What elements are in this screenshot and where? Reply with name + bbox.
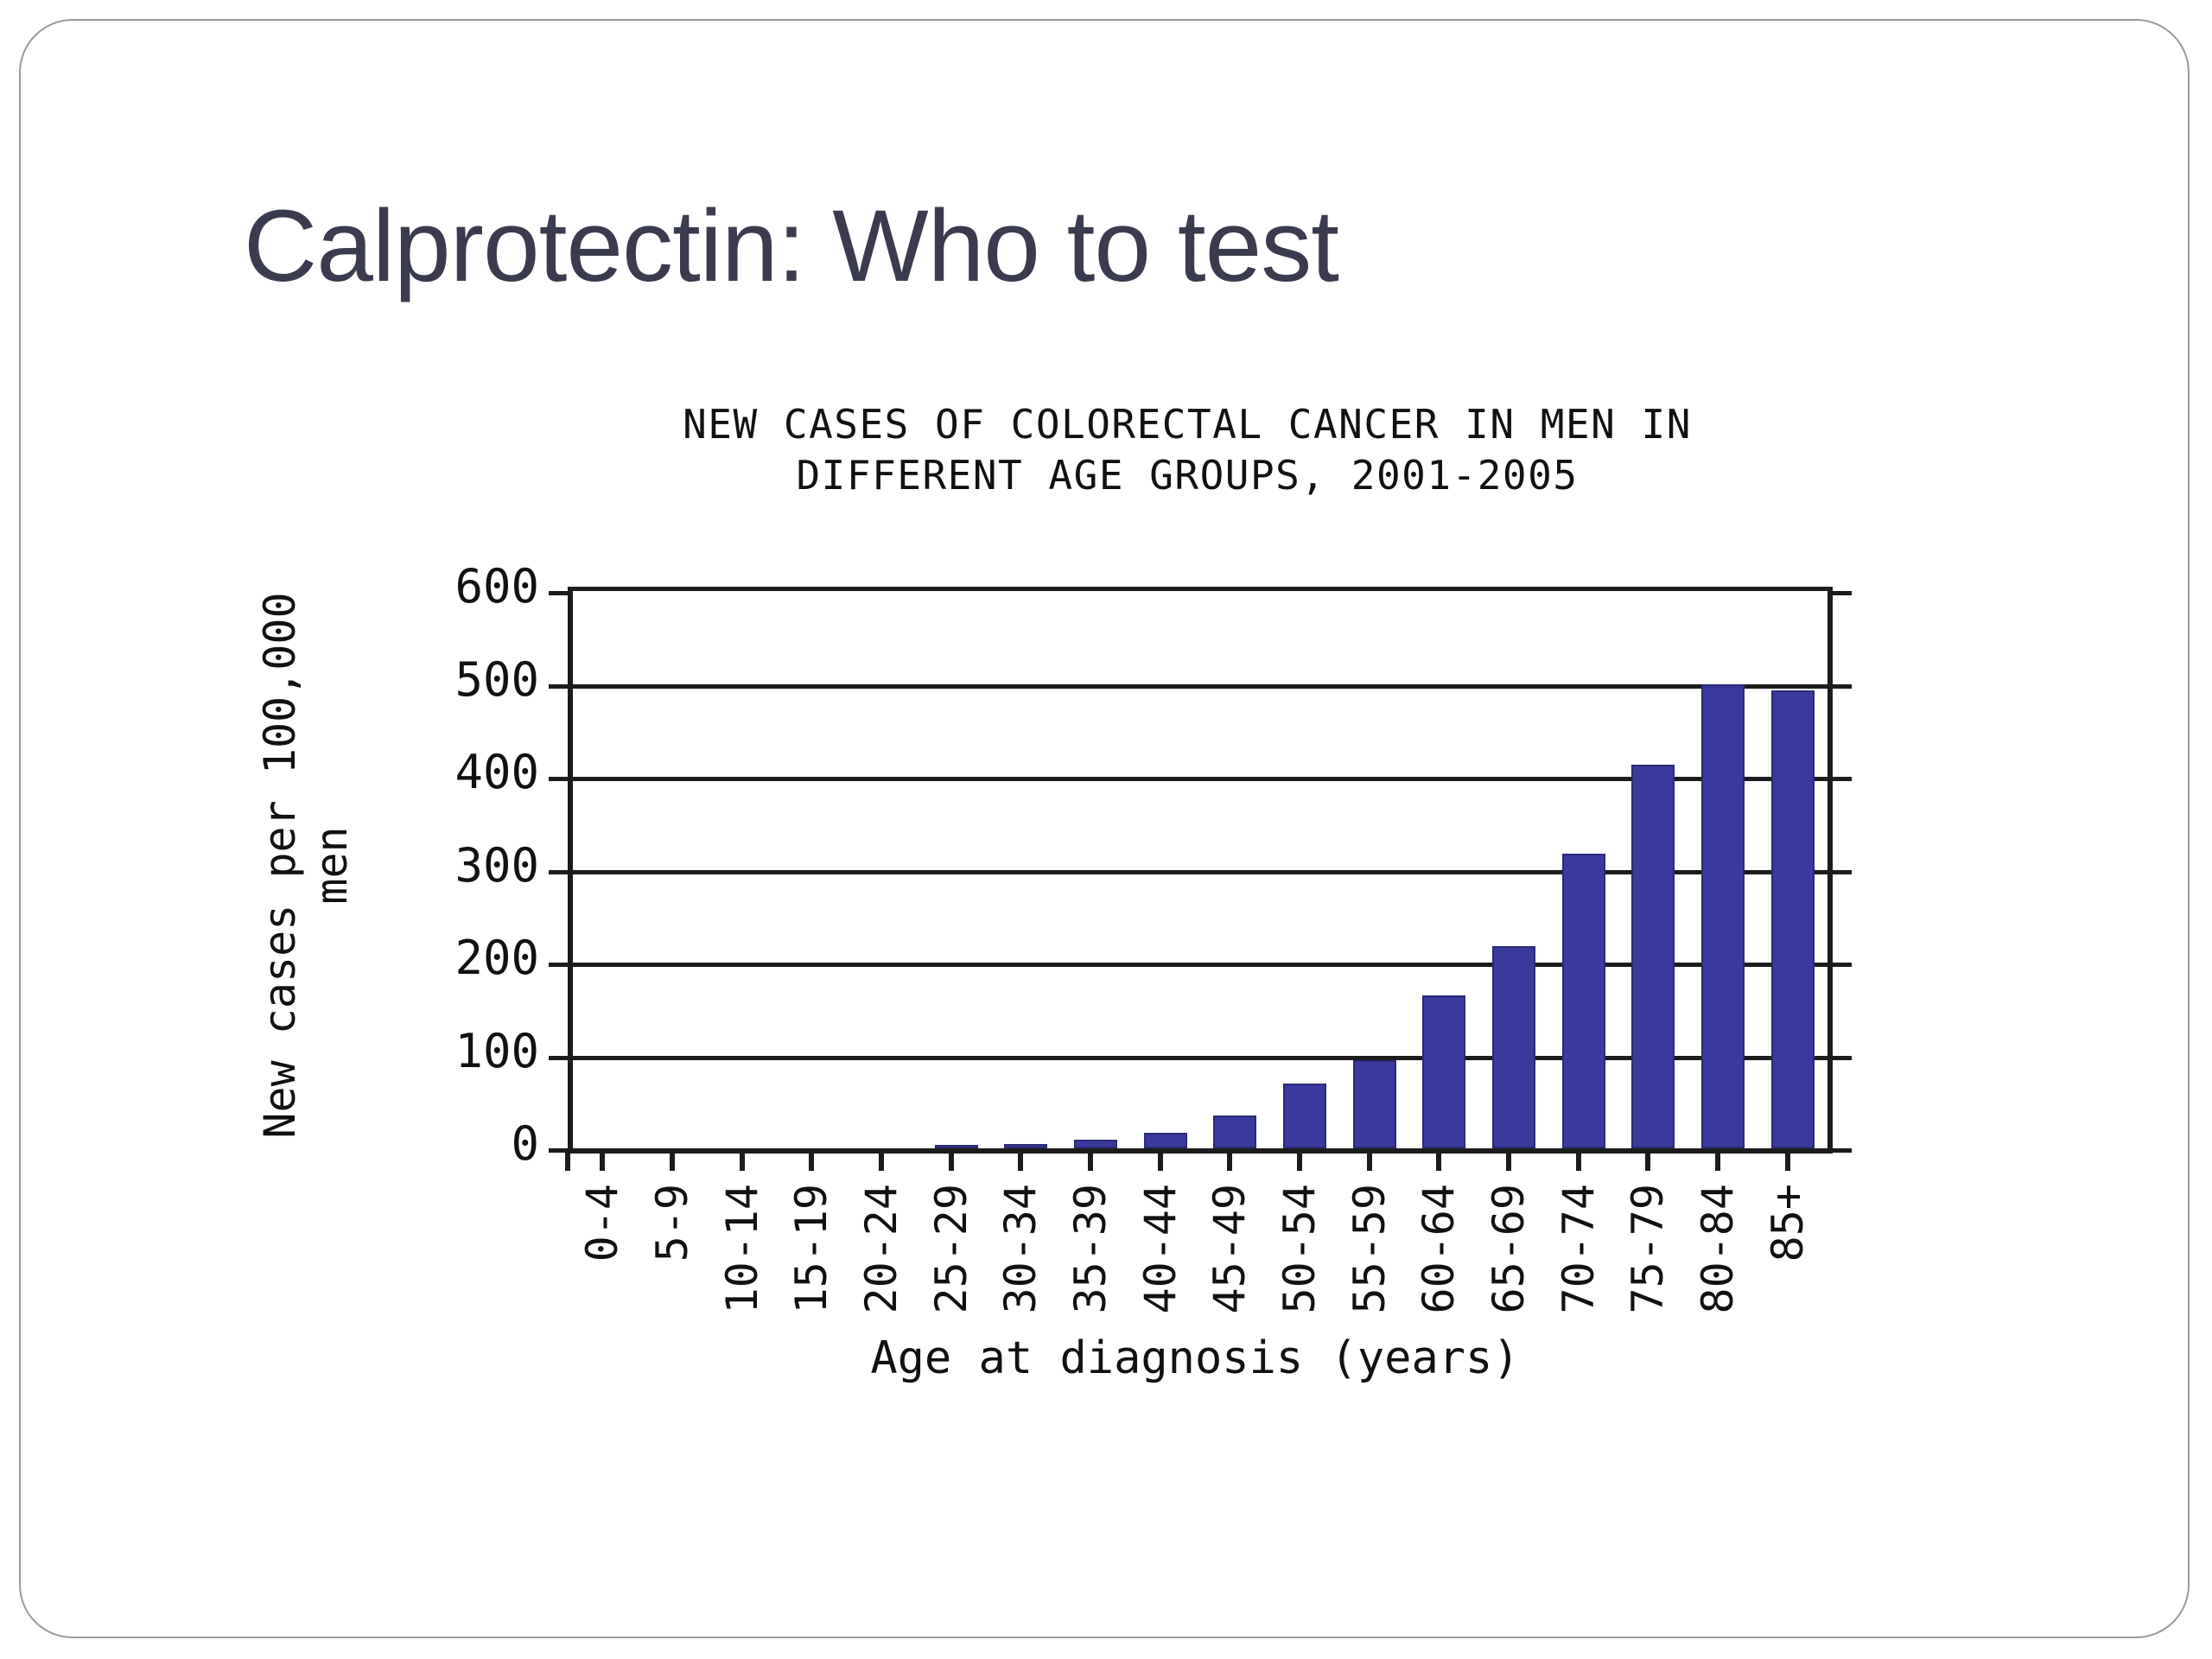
- x-axis-tick: [1404, 1148, 1474, 1171]
- y-axis-tick-right: [1833, 963, 1852, 967]
- bar: [1074, 1140, 1117, 1148]
- bar: [1353, 1060, 1396, 1148]
- y-axis-tick: [549, 1056, 568, 1060]
- x-axis-tick: [568, 1148, 638, 1171]
- x-axis-tick-label-text: 50-54: [1278, 1184, 1321, 1314]
- y-axis-label: New cases per 100,000 men: [254, 29, 392, 587]
- bar: [1283, 1084, 1326, 1148]
- bar-slot: [712, 591, 782, 1148]
- bar-series: [573, 591, 1827, 1148]
- y-axis-tick-right: [1833, 777, 1852, 781]
- x-axis-tick: [1613, 1148, 1683, 1171]
- x-axis-tick-label-text: 35-39: [1069, 1184, 1112, 1314]
- bar-slot: [1758, 591, 1827, 1148]
- bar-slot: [852, 591, 922, 1148]
- x-axis-tick-label-text: 40-44: [1139, 1184, 1182, 1314]
- x-axis-tick-label-text: 0-4: [581, 1184, 624, 1262]
- chart-title: NEW CASES OF COLORECTAL CANCER IN MEN IN…: [435, 399, 1939, 501]
- slide-canvas: Calprotectin: Who to test NEW CASES OF C…: [19, 19, 2190, 1638]
- bar: [1631, 765, 1675, 1148]
- x-axis-tick-label-text: 70-74: [1557, 1184, 1600, 1314]
- y-axis-tick-right: [1833, 1056, 1852, 1060]
- x-axis-tick-label-text: 10-14: [721, 1184, 764, 1314]
- x-axis-tick-label-text: 30-34: [999, 1184, 1042, 1314]
- x-axis-tick: [1125, 1148, 1195, 1171]
- y-axis-tick: [549, 684, 568, 689]
- y-axis-tick: [549, 591, 568, 595]
- x-axis-tick: [1334, 1148, 1404, 1171]
- bar-slot: [573, 591, 643, 1148]
- x-axis-tick: [1752, 1148, 1822, 1171]
- x-axis-tick: [1265, 1148, 1335, 1171]
- plot-area: [568, 587, 1833, 1154]
- chart-title-line-1: NEW CASES OF COLORECTAL CANCER IN MEN IN: [435, 399, 1939, 450]
- chart-figure: NEW CASES OF COLORECTAL CANCER IN MEN IN…: [21, 384, 2191, 1464]
- x-axis-tick: [916, 1148, 986, 1171]
- plot-inner: [573, 591, 1827, 1148]
- y-axis-tick-right: [1833, 1148, 1852, 1153]
- bar-slot: [1270, 591, 1340, 1148]
- bar-slot: [1130, 591, 1200, 1148]
- page-title: Calprotectin: Who to test: [244, 194, 2058, 301]
- x-axis-tick: [1543, 1148, 1613, 1171]
- y-axis-tick-label: 400: [454, 749, 539, 796]
- y-axis-label-line-2: men: [306, 587, 358, 1144]
- x-axis-tick-label-text: 15-19: [790, 1184, 833, 1314]
- x-axis-tick: [638, 1148, 708, 1171]
- bar-slot: [1479, 591, 1549, 1148]
- y-axis-tick-label: 500: [454, 657, 539, 703]
- bar-slot: [921, 591, 991, 1148]
- x-axis-tick-label-text: 80-84: [1696, 1184, 1739, 1314]
- bar-slot: [1200, 591, 1270, 1148]
- x-axis-tick-label-text: 85+: [1766, 1184, 1809, 1262]
- y-axis-tick: [549, 963, 568, 967]
- bar-slot: [1688, 591, 1758, 1148]
- y-axis-tick-right: [1833, 684, 1852, 689]
- x-axis-tick: [1683, 1148, 1753, 1171]
- y-axis-tick-right: [1833, 591, 1852, 595]
- y-axis-tick: [549, 777, 568, 781]
- bar-slot: [782, 591, 852, 1148]
- y-axis-tick-label: 0: [511, 1121, 539, 1167]
- bar: [1562, 854, 1605, 1148]
- x-axis-label: Age at diagnosis (years): [568, 1332, 1822, 1384]
- y-axis-tick: [549, 870, 568, 874]
- chart-title-line-2: DIFFERENT AGE GROUPS, 2001-2005: [435, 450, 1939, 501]
- y-axis-tick-labels: 6005004003002001000: [401, 587, 539, 1144]
- x-axis-tick-label-text: 45-49: [1208, 1184, 1251, 1314]
- x-axis-tick-label-text: 60-64: [1417, 1184, 1460, 1314]
- y-axis-label-line-1: New cases per 100,000: [254, 587, 306, 1144]
- x-axis-tick: [1056, 1148, 1126, 1171]
- x-axis-tick: [707, 1148, 777, 1171]
- x-axis-tick: [847, 1148, 917, 1171]
- x-axis-tick-label-text: 55-59: [1348, 1184, 1391, 1314]
- x-axis-tick-label-text: 65-69: [1487, 1184, 1530, 1314]
- y-axis-tick-label: 300: [454, 842, 539, 889]
- bar-slot: [643, 591, 713, 1148]
- bar: [1701, 684, 1745, 1149]
- x-axis-tick-label-text: 20-24: [860, 1184, 903, 1314]
- bar: [1771, 690, 1815, 1148]
- bar: [1144, 1133, 1187, 1148]
- bar-slot: [991, 591, 1061, 1148]
- bar-slot: [1061, 591, 1131, 1148]
- bar: [1422, 995, 1465, 1148]
- bar-slot: [1548, 591, 1618, 1148]
- x-axis-tick: [777, 1148, 847, 1171]
- x-axis-ticks: [568, 1148, 1822, 1171]
- x-axis-tick-label-text: 5-9: [651, 1184, 694, 1262]
- bar-slot: [1339, 591, 1409, 1148]
- x-axis-tick: [1474, 1148, 1544, 1171]
- bar: [1213, 1116, 1256, 1148]
- bar: [1492, 946, 1535, 1148]
- x-axis-tick-label-text: 25-29: [930, 1184, 973, 1314]
- y-axis-tick-label: 100: [454, 1028, 539, 1075]
- x-axis-tick: [1195, 1148, 1265, 1171]
- y-axis-tick-label: 600: [454, 563, 539, 610]
- x-axis-tick-label-text: 75-79: [1626, 1184, 1669, 1314]
- x-axis-tick: [986, 1148, 1056, 1171]
- y-axis-tick-right: [1833, 870, 1852, 874]
- y-axis-tick-label: 200: [454, 935, 539, 982]
- bar-slot: [1618, 591, 1688, 1148]
- bar-slot: [1409, 591, 1479, 1148]
